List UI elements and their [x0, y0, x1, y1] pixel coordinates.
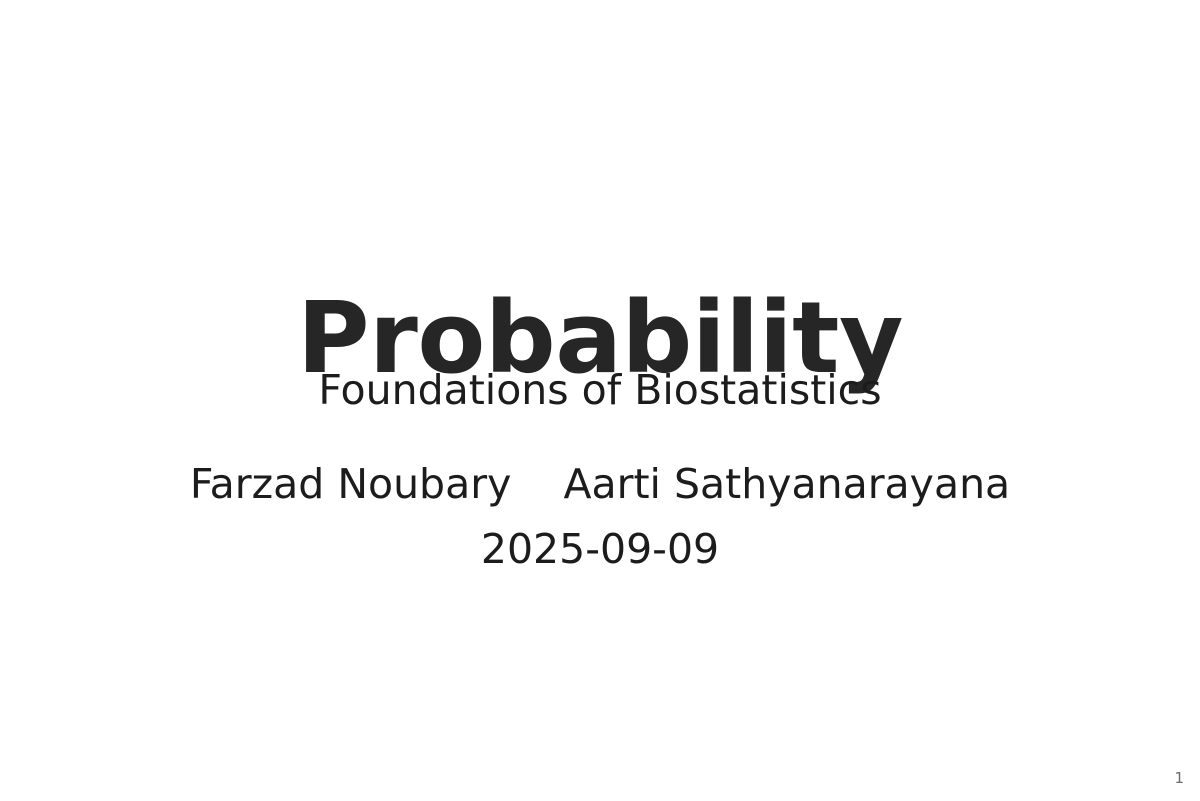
title-slide: Probability Foundations of Biostatistics… [0, 0, 1200, 801]
slide-authors: Farzad Noubary Aarti Sathyanarayana [0, 460, 1200, 508]
slide-date: 2025-09-09 [0, 525, 1200, 573]
page-number: 1 [1174, 771, 1184, 786]
slide-subtitle: Foundations of Biostatistics [0, 366, 1200, 414]
